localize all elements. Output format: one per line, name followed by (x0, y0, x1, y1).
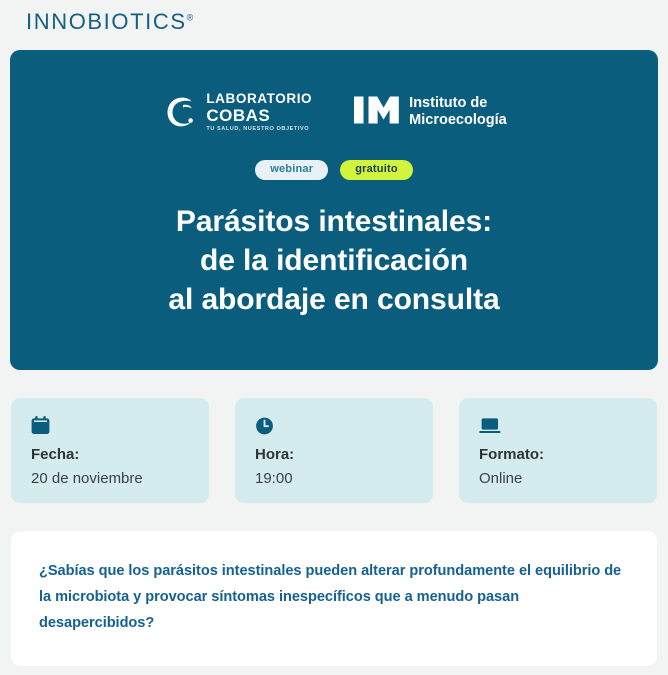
hero-banner: LABORATORIO COBAS TU SALUD, NUESTRO OBJE… (10, 50, 658, 370)
event-details-row: Fecha: 20 de noviembre Hora: 19:00 Forma… (11, 398, 657, 503)
hero-title-line-1: Parásitos intestinales: (50, 202, 618, 241)
brand-wordmark-text: INNOBIOTICS (26, 9, 187, 34)
info-card-formato-label: Formato: (479, 447, 657, 462)
info-card-hora-label: Hora: (255, 447, 433, 462)
im-monogram-icon (354, 95, 400, 130)
lead-paragraph: ¿Sabías que los parásitos intestinales p… (39, 559, 627, 637)
body-content-panel: ¿Sabías que los parásitos intestinales p… (11, 531, 657, 666)
cobas-line-laboratorio: LABORATORIO (206, 92, 312, 106)
registered-trademark-symbol: ® (187, 13, 194, 23)
info-card-fecha: Fecha: 20 de noviembre (11, 398, 209, 503)
info-card-fecha-label: Fecha: (31, 447, 209, 462)
badge-gratuito: gratuito (340, 160, 413, 180)
badge-webinar: webinar (255, 160, 328, 180)
cobas-wordmark: LABORATORIO COBAS TU SALUD, NUESTRO OBJE… (206, 92, 312, 132)
brand-header: INNOBIOTICS® (0, 0, 668, 44)
hero-title-line-3: al abordaje en consulta (50, 280, 618, 319)
instituto-microecologia-logo: Instituto de Microecología (354, 95, 507, 130)
hero-badge-row: webinar gratuito (10, 160, 658, 180)
calendar-icon (31, 416, 209, 436)
laboratorio-cobas-logo: LABORATORIO COBAS TU SALUD, NUESTRO OBJE… (161, 92, 312, 132)
cobas-tagline: TU SALUD, NUESTRO OBJETIVO (206, 127, 312, 133)
im-line-instituto: Instituto de (409, 95, 507, 112)
info-card-hora: Hora: 19:00 (235, 398, 433, 503)
innobiotics-logo: INNOBIOTICS® (26, 11, 193, 33)
im-line-microecologia: Microecología (409, 112, 507, 129)
info-card-fecha-value: 20 de noviembre (31, 471, 209, 486)
info-card-formato-value: Online (479, 471, 657, 486)
hero-title-line-2: de la identificación (50, 241, 618, 280)
hero-title: Parásitos intestinales: de la identifica… (10, 202, 658, 319)
laptop-icon (479, 416, 657, 436)
cobas-line-cobas: COBAS (206, 107, 312, 124)
info-card-hora-value: 19:00 (255, 471, 433, 486)
im-wordmark: Instituto de Microecología (409, 95, 507, 129)
info-card-formato: Formato: Online (459, 398, 657, 503)
hero-partner-logos: LABORATORIO COBAS TU SALUD, NUESTRO OBJE… (10, 50, 658, 132)
cobas-swirl-icon (161, 93, 199, 131)
clock-icon (255, 416, 433, 436)
